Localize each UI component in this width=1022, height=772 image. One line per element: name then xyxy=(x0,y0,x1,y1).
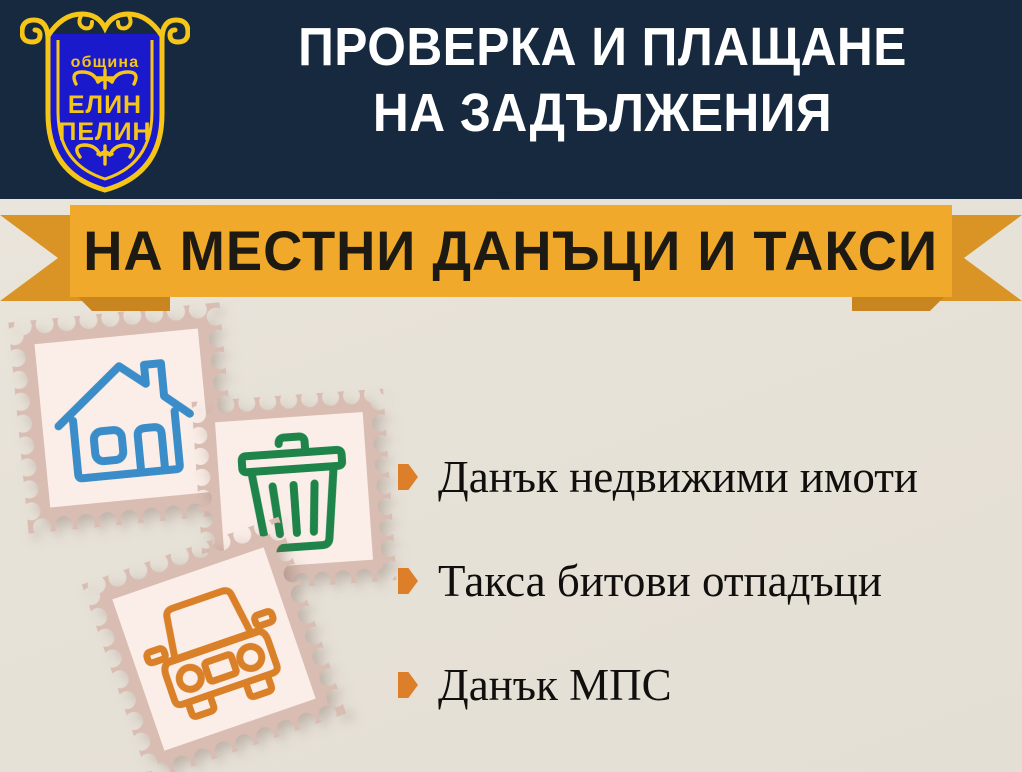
logo-text-line2: ПЕЛИН xyxy=(58,118,151,146)
page-title-line2: НА ЗАДЪЛЖЕНИЯ xyxy=(223,80,982,146)
arrow-bullet-icon xyxy=(398,568,418,594)
ribbon-label: НА МЕСТНИ ДАНЪЦИ И ТАКСИ xyxy=(84,222,939,280)
list-item-label: Данък МПС xyxy=(438,660,672,710)
header-bar: община ЕЛИН ПЕЛИН xyxy=(0,0,1022,199)
stamp-card-group xyxy=(0,300,430,772)
page-title-line1: ПРОВЕРКА И ПЛАЩАНЕ xyxy=(223,14,982,80)
coat-of-arms-icon: община ЕЛИН ПЕЛИН xyxy=(20,6,190,194)
list-item[interactable]: Такса битови отпадъци xyxy=(398,529,1018,633)
poster-root: община ЕЛИН ПЕЛИН xyxy=(0,0,1022,772)
list-item-label: Данък недвижими имоти xyxy=(438,452,918,502)
ribbon-band: НА МЕСТНИ ДАНЪЦИ И ТАКСИ xyxy=(70,205,952,297)
list-item[interactable]: Данък недвижими имоти xyxy=(398,425,1018,529)
municipality-logo: община ЕЛИН ПЕЛИН xyxy=(20,6,190,194)
list-item-label: Такса битови отпадъци xyxy=(438,556,882,606)
arrow-bullet-icon xyxy=(398,672,418,698)
page-title: ПРОВЕРКА И ПЛАЩАНЕ НА ЗАДЪЛЖЕНИЯ xyxy=(223,14,982,146)
tax-type-list: Данък недвижими имоти Такса битови отпад… xyxy=(398,425,1018,737)
arrow-bullet-icon xyxy=(398,464,418,490)
list-item[interactable]: Данък МПС xyxy=(398,633,1018,737)
logo-text-line1: ЕЛИН xyxy=(68,91,142,119)
subtitle-ribbon: НА МЕСТНИ ДАНЪЦИ И ТАКСИ xyxy=(0,199,1022,311)
